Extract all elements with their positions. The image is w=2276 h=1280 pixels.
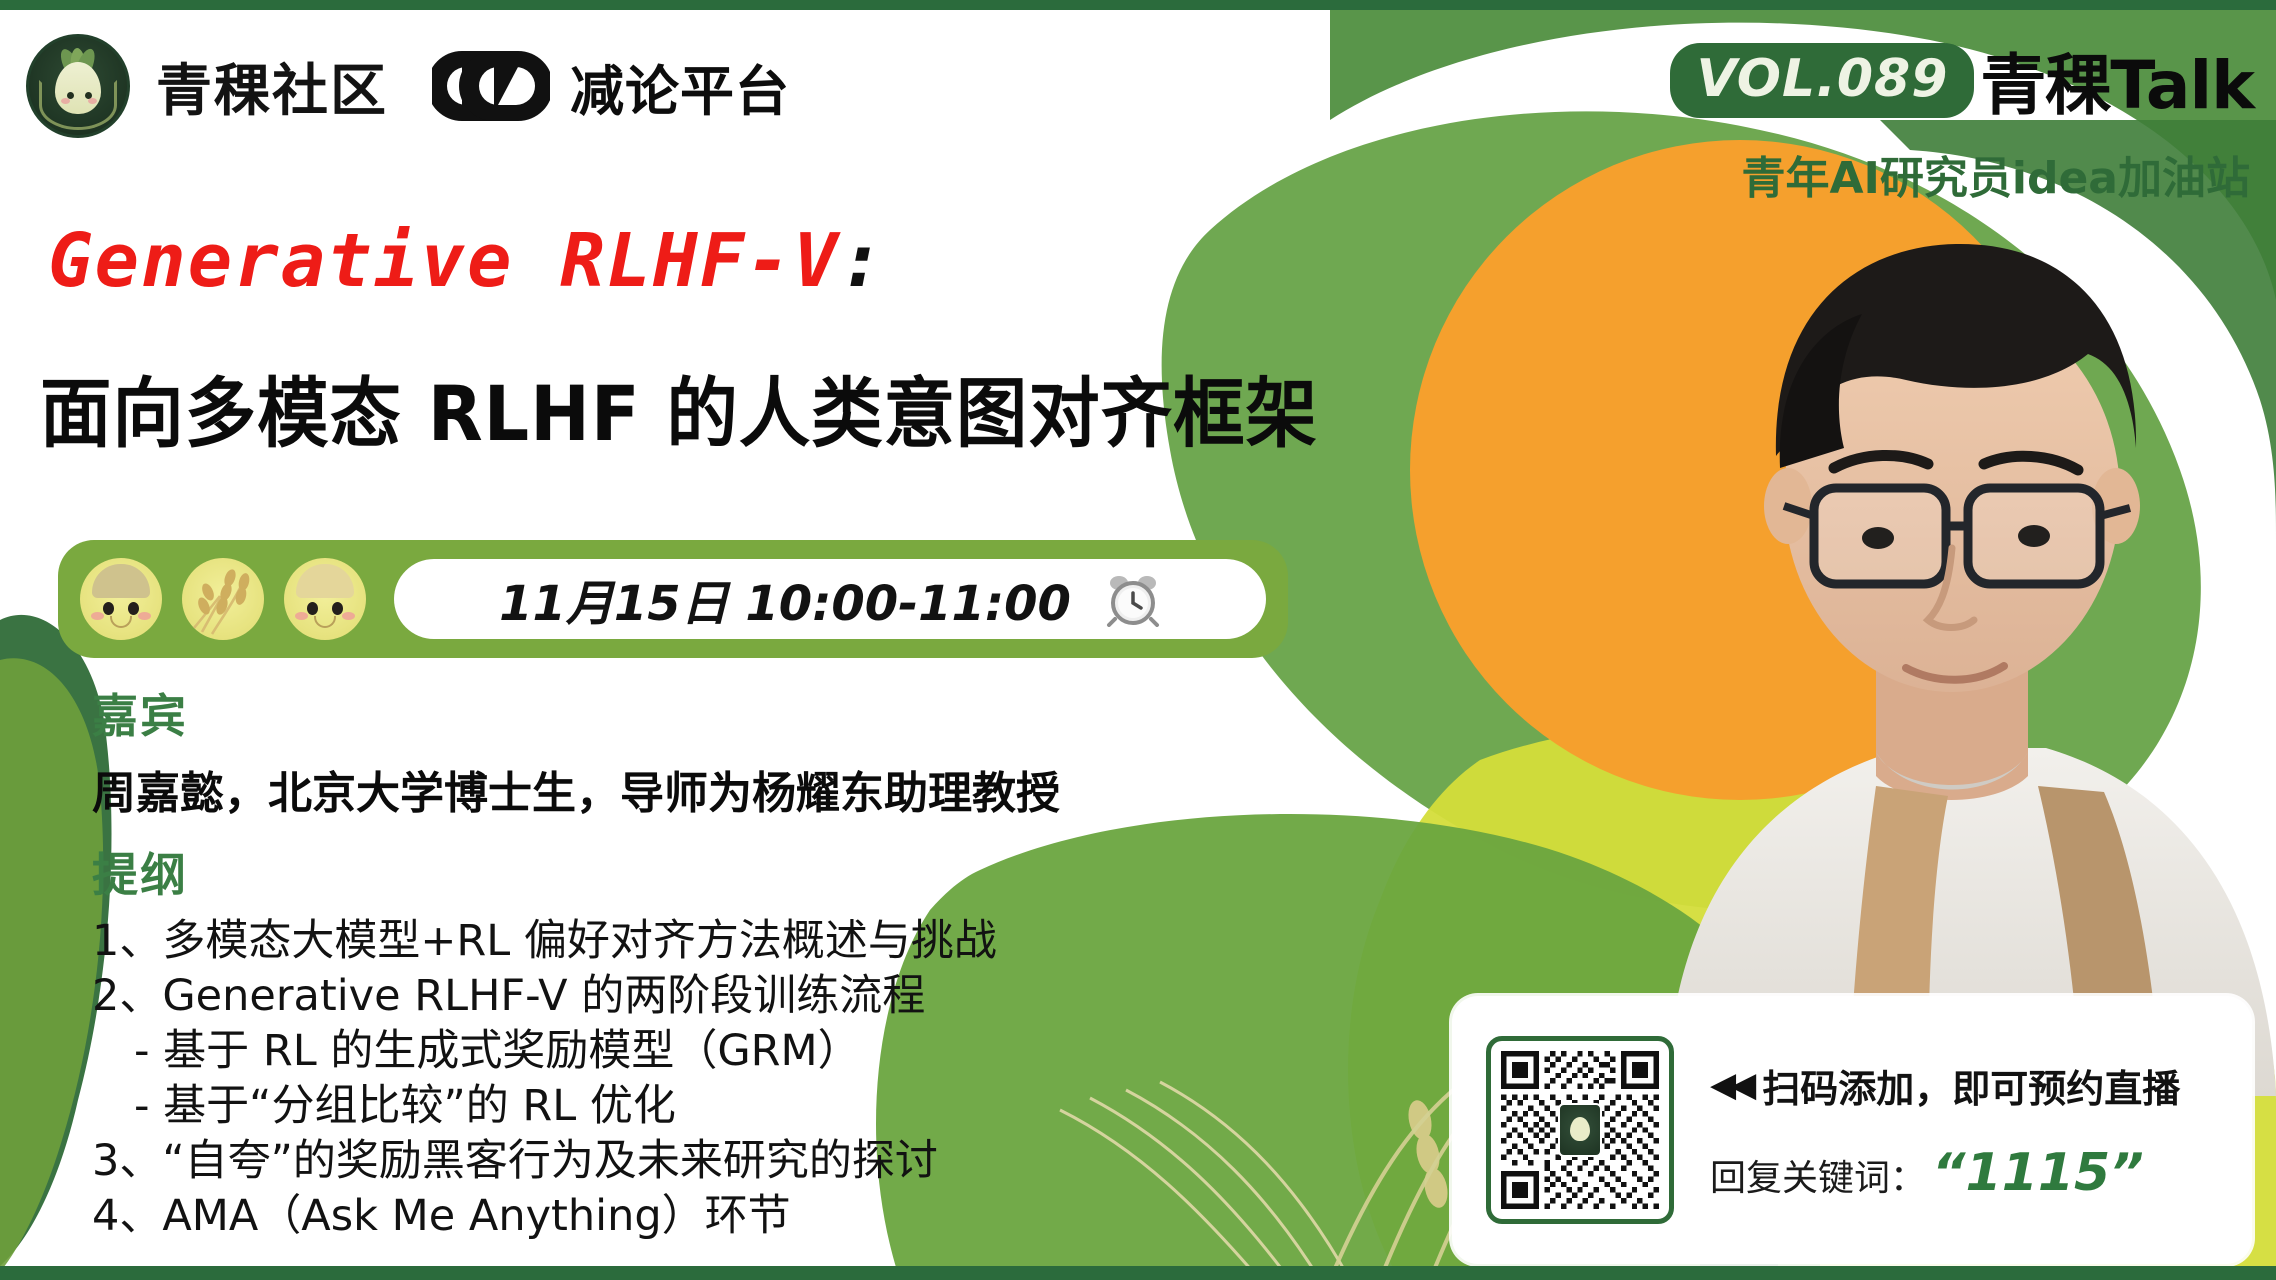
scan-text: 扫码添加，即可预约直播 [1762, 1058, 2180, 1113]
qr-code-icon[interactable] [1486, 1036, 1674, 1224]
datetime-text: 11月15日 10:00-11:00 [499, 564, 1071, 634]
outline-heading: 提纲 [92, 849, 1422, 902]
outline-list: 1、多模态大模型+RL 偏好对齐方法概述与挑战 2、Generative RLH… [92, 914, 1422, 1244]
alarm-clock-icon [1105, 571, 1161, 627]
title-english-wrap: Generative RLHF-V: [48, 218, 886, 304]
header: 青稞社区 减论平台 [26, 34, 790, 138]
outline-item: - 基于 RL 的生成式奖励模型（GRM） [92, 1024, 1422, 1079]
guest-heading: 嘉宾 [92, 690, 1422, 743]
keyword-row: 回复关键词： “1115” [1710, 1143, 2180, 1203]
qr-text-block: ◀◀ 扫码添加，即可预约直播 回复关键词： “1115” [1710, 1058, 2180, 1203]
platform-name: 减论平台 [570, 47, 790, 126]
top-border-strip [0, 0, 2276, 10]
series-header: VOL.089 青稞Talk [1670, 32, 2254, 128]
wheat-avatar-icon [182, 558, 264, 640]
speaker-portrait-illustration [1576, 96, 2276, 1096]
title-chinese: 面向多模态 RLHF 的人类意图对齐框架 [40, 352, 1318, 462]
outline-item: 3、“自夸”的奖励黑客行为及未来研究的探讨 [92, 1134, 1422, 1189]
outline-item: - 基于“分组比较”的 RL 优化 [92, 1079, 1422, 1134]
avatar-group [80, 558, 366, 640]
barley-mascot-logo-icon [26, 34, 130, 138]
community-name: 青稞社区 [156, 46, 388, 127]
outline-item: 1、多模态大模型+RL 偏好对齐方法概述与挑战 [92, 914, 1422, 969]
platform-logo: 减论平台 [432, 47, 790, 126]
qr-center-logo-icon [1558, 1103, 1602, 1157]
poster-root: 青稞社区 减论平台 VOL.089 青稞Talk 青年AI研究员idea加油站 … [0, 0, 2276, 1280]
left-arrows-icon: ◀◀ [1710, 1065, 1750, 1105]
keyword-value: “1115” [1932, 1143, 2144, 1203]
datetime-pill: 11月15日 10:00-11:00 [394, 559, 1266, 639]
qr-card[interactable]: ◀◀ 扫码添加，即可预约直播 回复关键词： “1115” [1452, 996, 2252, 1264]
schedule-bar: 11月15日 10:00-11:00 [58, 540, 1288, 658]
talk-title: 青稞Talk [1980, 32, 2254, 128]
outline-item: 4、AMA（Ask Me Anything）环节 [92, 1189, 1422, 1244]
jianlun-dd-logo-icon [432, 49, 550, 123]
title-english: Generative RLHF-V [48, 218, 839, 304]
keyword-label: 回复关键词： [1710, 1149, 1926, 1201]
speaker-photo [1576, 96, 2276, 1096]
bottom-border-strip [0, 1266, 2276, 1280]
series-tagline: 青年AI研究员idea加油站 [1741, 142, 2250, 206]
content-block: 嘉宾 周嘉懿，北京大学博士生，导师为杨耀东助理教授 提纲 1、多模态大模型+RL… [92, 690, 1422, 1244]
volume-badge: VOL.089 [1670, 43, 1974, 118]
guest-info: 周嘉懿，北京大学博士生，导师为杨耀东助理教授 [92, 757, 1422, 821]
mascot-face-avatar-icon [80, 558, 162, 640]
mascot-face-avatar-icon-2 [284, 558, 366, 640]
title-colon: : [839, 218, 886, 304]
outline-item: 2、Generative RLHF-V 的两阶段训练流程 [92, 969, 1422, 1024]
scan-instruction: ◀◀ 扫码添加，即可预约直播 [1710, 1058, 2180, 1113]
